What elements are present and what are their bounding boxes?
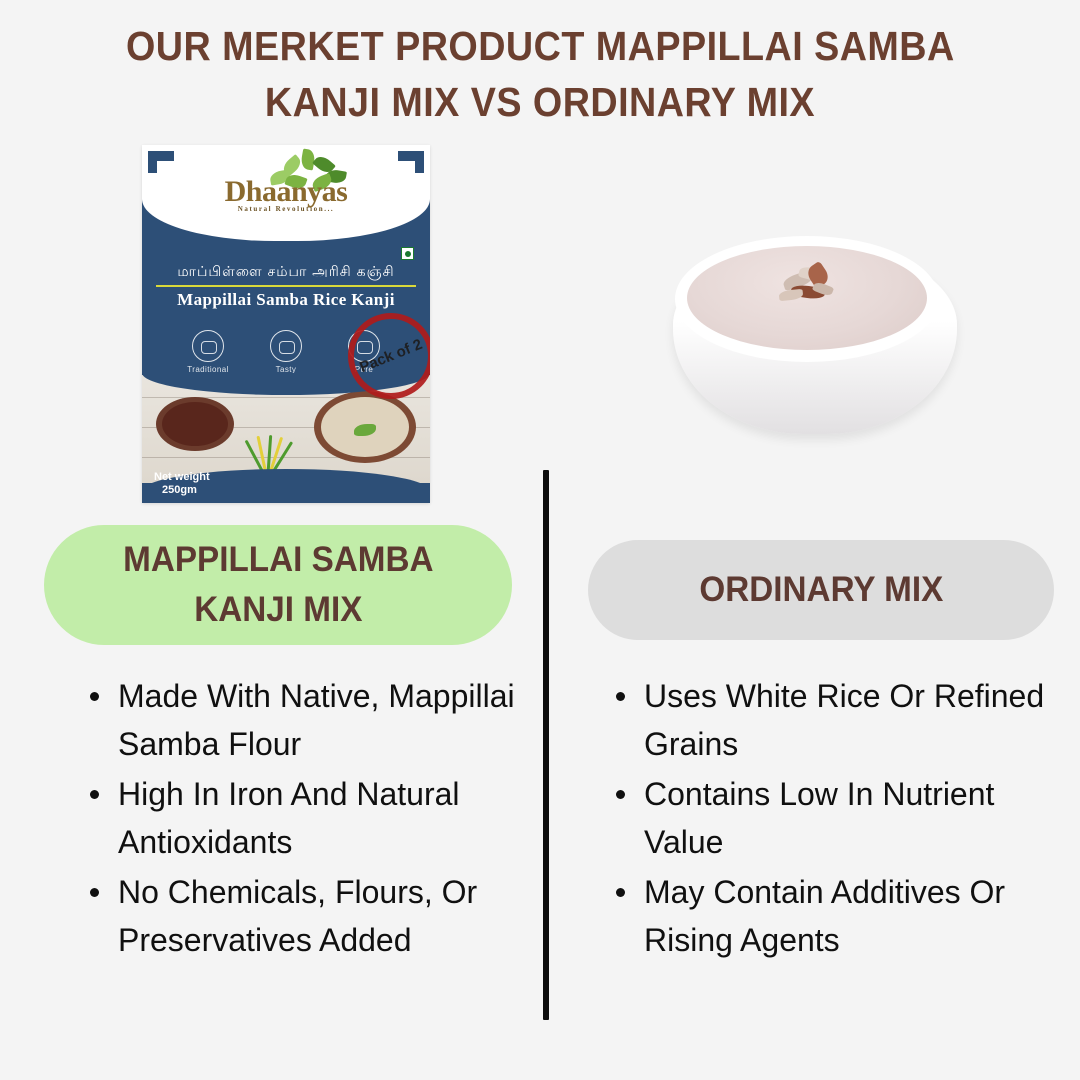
net-weight-label: Net weight (154, 471, 210, 483)
left-comparison-column: Dhaanyas Natural Revolution... மாப்பிள்ள… (26, 130, 546, 503)
ordinary-mix-image (665, 228, 965, 456)
tasty-icon (270, 330, 302, 362)
ragi-bowl (156, 397, 234, 451)
left-category-label-line-2: KANJI MIX (194, 590, 362, 629)
kanji-bowl (314, 391, 416, 463)
pack-of-2-stamp-text: Pack of 2 (357, 336, 424, 376)
product-name-tamil: மாப்பிள்ளை சம்பா அரிசி கஞ்சி (142, 263, 430, 282)
list-item: No Chemicals, Flours, Or Preservatives A… (86, 868, 546, 964)
right-feature-list: Uses White Rice Or Refined Grains Contai… (612, 672, 1064, 966)
page-title-line-1: OUR MERKET PRODUCT MAPPILLAI SAMBA (126, 18, 954, 74)
traditional-icon (192, 330, 224, 362)
right-category-label-text: ORDINARY MIX (699, 565, 943, 615)
net-weight-value: 250gm (154, 484, 210, 497)
right-category-label: ORDINARY MIX (588, 540, 1054, 640)
badge-tasty: Tasty (260, 330, 312, 374)
left-category-label: MAPPILLAI SAMBA KANJI MIX (44, 525, 512, 645)
product-name-english: Mappillai Samba Rice Kanji (142, 290, 430, 310)
left-feature-list: Made With Native, Mappillai Samba Flour … (86, 672, 546, 966)
bowl-photo (665, 228, 965, 456)
page-title-line-2: KANJI MIX VS ORDINARY MIX (126, 74, 954, 130)
list-item: Made With Native, Mappillai Samba Flour (86, 672, 546, 768)
product-package-image: Dhaanyas Natural Revolution... மாப்பிள்ள… (142, 145, 430, 503)
vegetarian-mark-icon (401, 247, 414, 260)
right-comparison-column (556, 130, 1074, 456)
list-item: Uses White Rice Or Refined Grains (612, 672, 1064, 768)
name-underline (156, 285, 416, 287)
list-item: High In Iron And Natural Antioxidants (86, 770, 546, 866)
net-weight: Net weight 250gm (154, 471, 210, 497)
badge-traditional: Traditional (182, 330, 234, 374)
brand-name: Dhaanyas (225, 175, 348, 209)
package-artwork: Dhaanyas Natural Revolution... மாப்பிள்ள… (142, 145, 430, 503)
kanji-liquid (687, 246, 927, 350)
brand-logo: Dhaanyas Natural Revolution... (142, 153, 430, 213)
left-category-label-line-1: MAPPILLAI SAMBA (123, 540, 433, 579)
list-item: May Contain Additives Or Rising Agents (612, 868, 1064, 964)
pack-of-2-stamp: Pack of 2 (348, 313, 430, 399)
page-title: OUR MERKET PRODUCT MAPPILLAI SAMBA KANJI… (90, 18, 990, 130)
list-item: Contains Low In Nutrient Value (612, 770, 1064, 866)
